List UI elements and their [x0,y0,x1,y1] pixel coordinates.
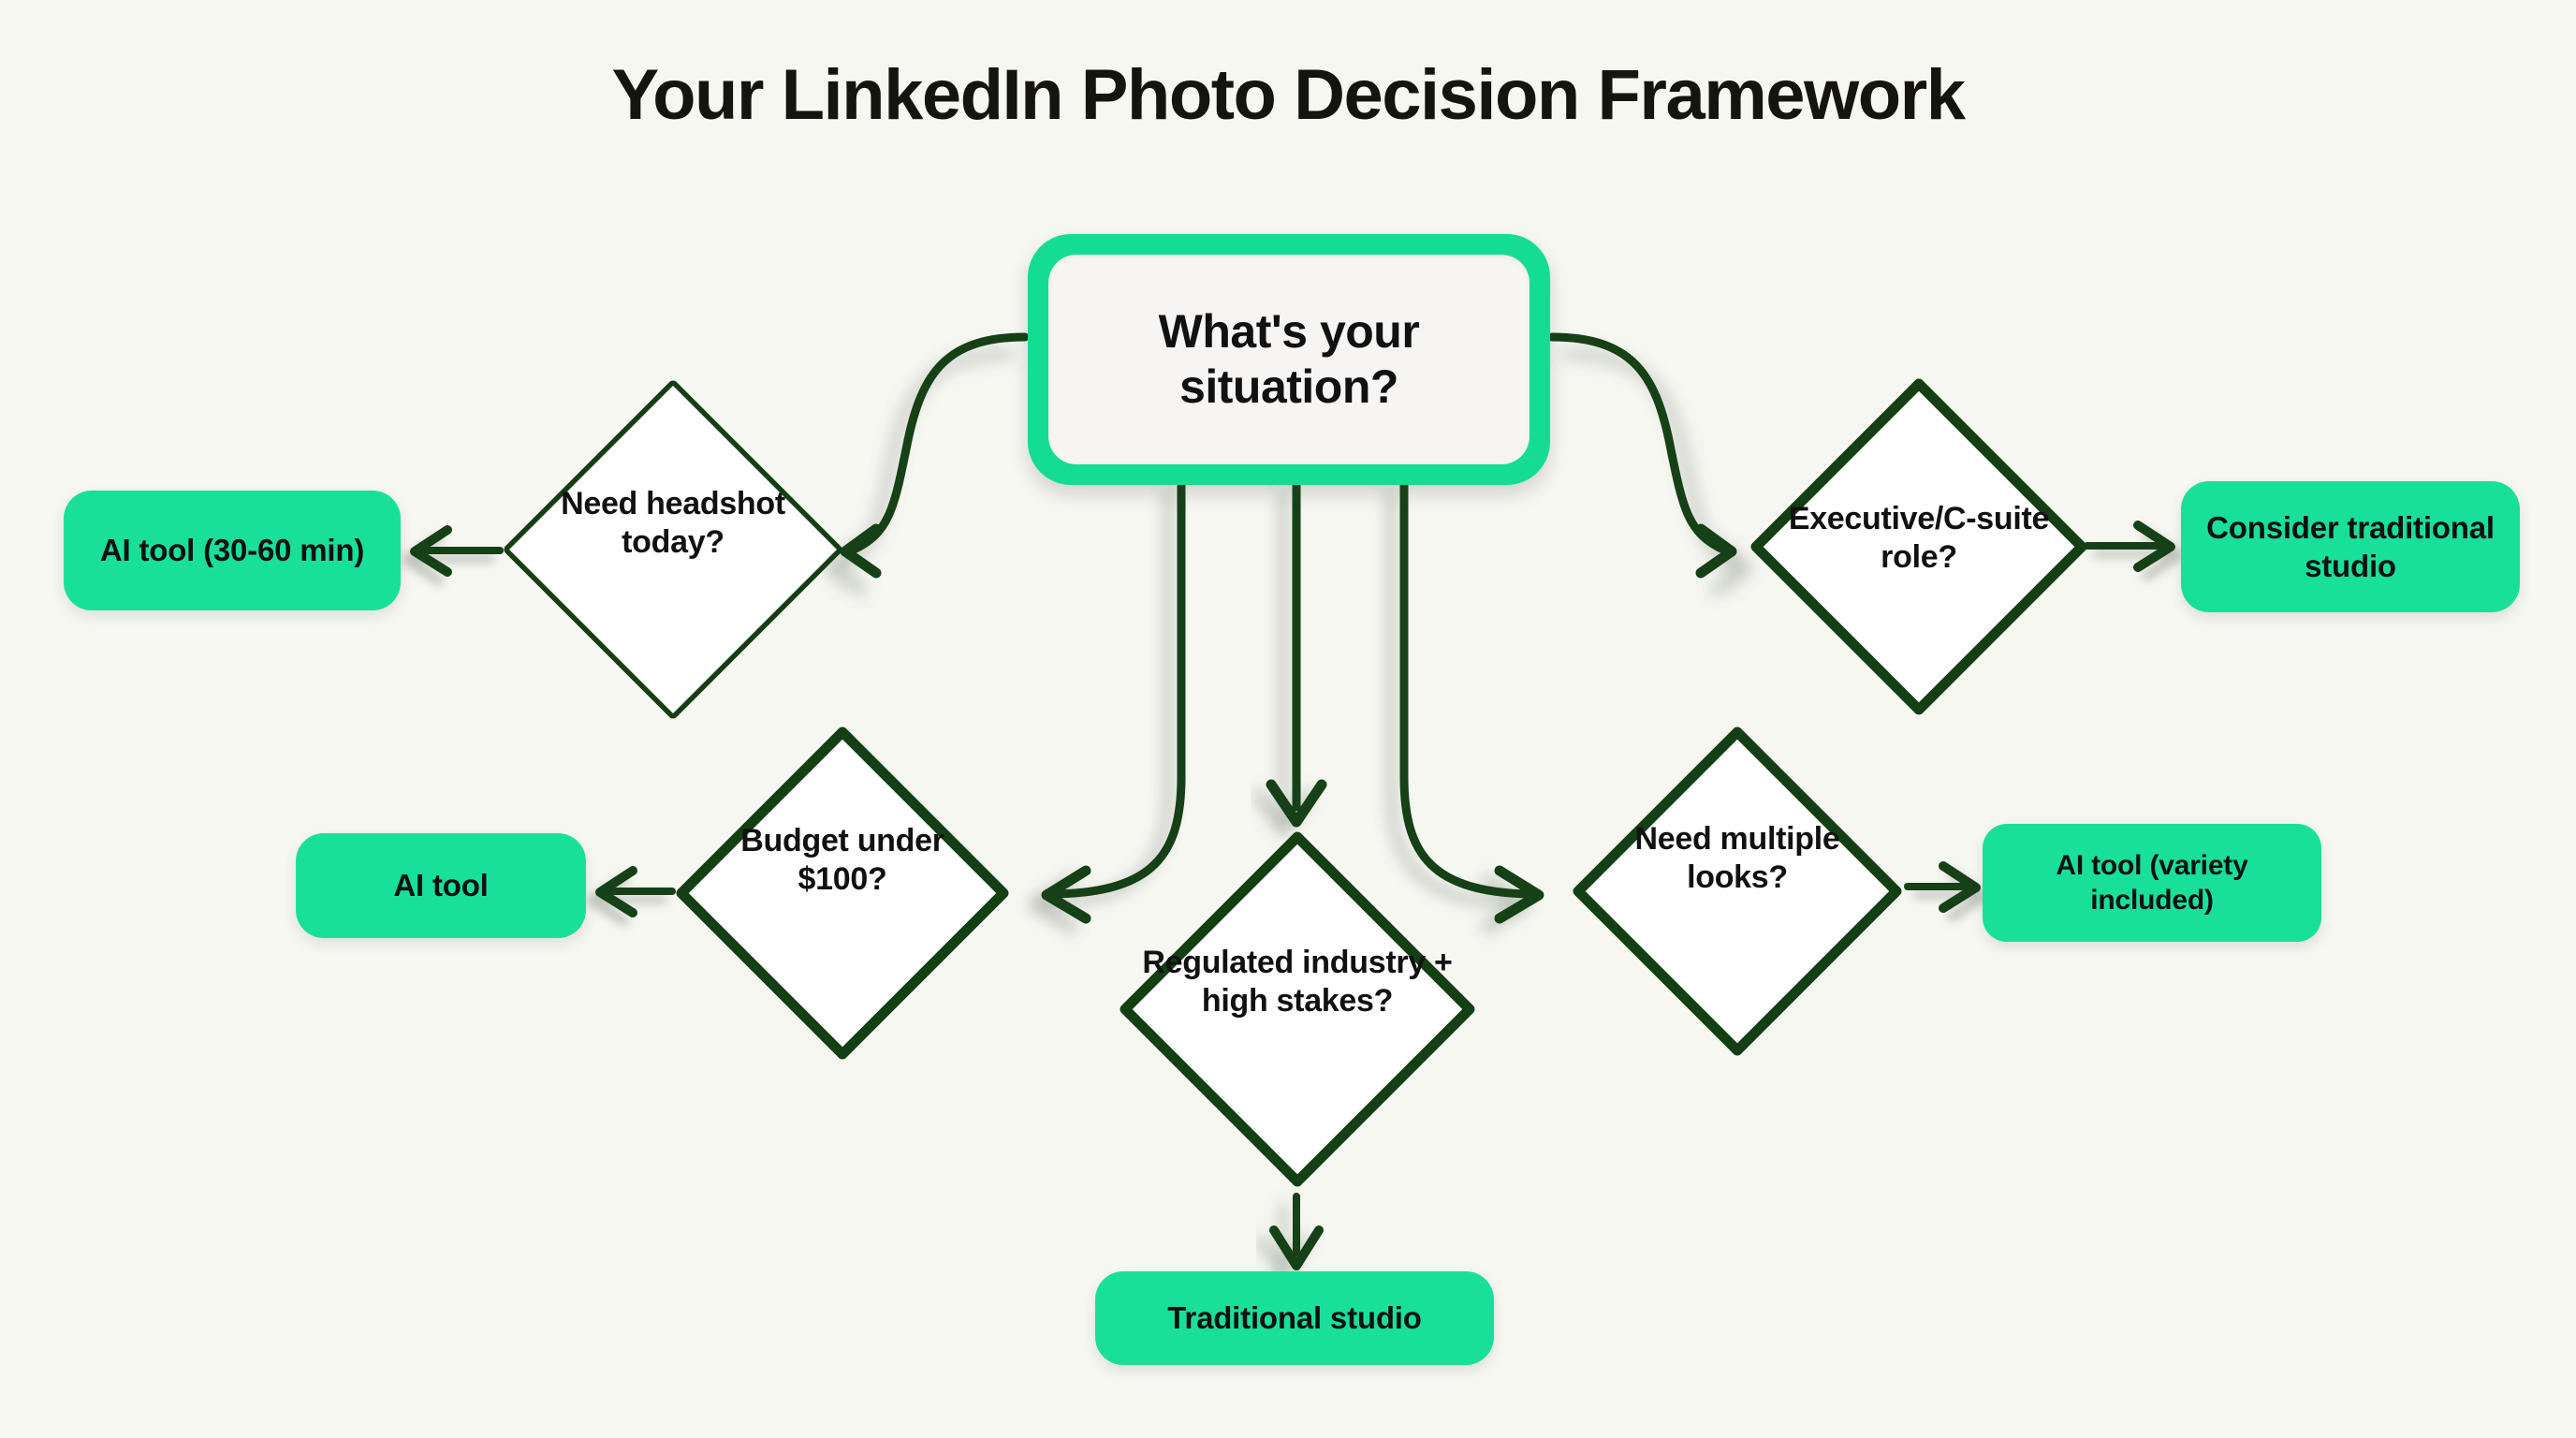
flowchart-canvas: Your LinkedIn Photo Decision Framework [0,0,2576,1438]
edge-root-to-executive [1552,337,1732,573]
outcome-traditional-studio[interactable]: Traditional studio [1095,1271,1494,1365]
outcome-ai-tool-30-60-min[interactable]: AI tool (30-60 min) [64,491,401,610]
decision-budget-under-100[interactable]: Budget under $100? [668,719,1017,1067]
outcome-label: AI tool (30-60 min) [100,531,364,569]
edge-layer [0,0,2576,1438]
decision-regulated-industry[interactable]: Regulated industry + high stakes? [1112,824,1483,1195]
page-title: Your LinkedIn Photo Decision Framework [0,54,2576,136]
edge-need-headshot-to-ai-tool [415,530,500,572]
decision-need-multiple-looks[interactable]: Need multiple looks? [1565,719,1910,1064]
decision-executive-c-suite[interactable]: Executive/C-suite role? [1743,371,2095,723]
outcome-ai-tool[interactable]: AI tool [296,833,586,938]
outcome-ai-tool-variety-included[interactable]: AI tool (variety included) [1983,824,2321,942]
edge-root-to-need-headshot [845,337,1025,573]
decision-need-headshot-today[interactable]: Need headshot today? [496,373,850,726]
edge-executive-to-studio [2087,525,2171,567]
outcome-label: Consider traditional studio [2198,508,2503,586]
edge-multiple-looks-to-ai-variety [1908,866,1976,908]
outcome-label: Traditional studio [1167,1299,1421,1337]
outcome-label: AI tool [393,866,488,904]
decision-label: Regulated industry + high stakes? [1142,944,1454,1021]
edge-regulated-to-traditional-studio [1274,1196,1319,1266]
decision-label: Budget under $100? [710,822,975,900]
edge-budget-to-ai-tool [600,871,672,913]
outcome-label: AI tool (variety included) [1999,848,2305,918]
root-node-label: What's your situation? [1048,255,1529,464]
decision-label: Need headshot today? [538,485,807,563]
root-node-whats-your-situation[interactable]: What's your situation? [1028,234,1550,485]
outcome-consider-traditional-studio[interactable]: Consider traditional studio [2181,481,2520,612]
edge-root-to-regulated [1271,485,1322,822]
decision-label: Need multiple looks? [1606,820,1868,898]
decision-label: Executive/C-suite role? [1785,500,2053,578]
